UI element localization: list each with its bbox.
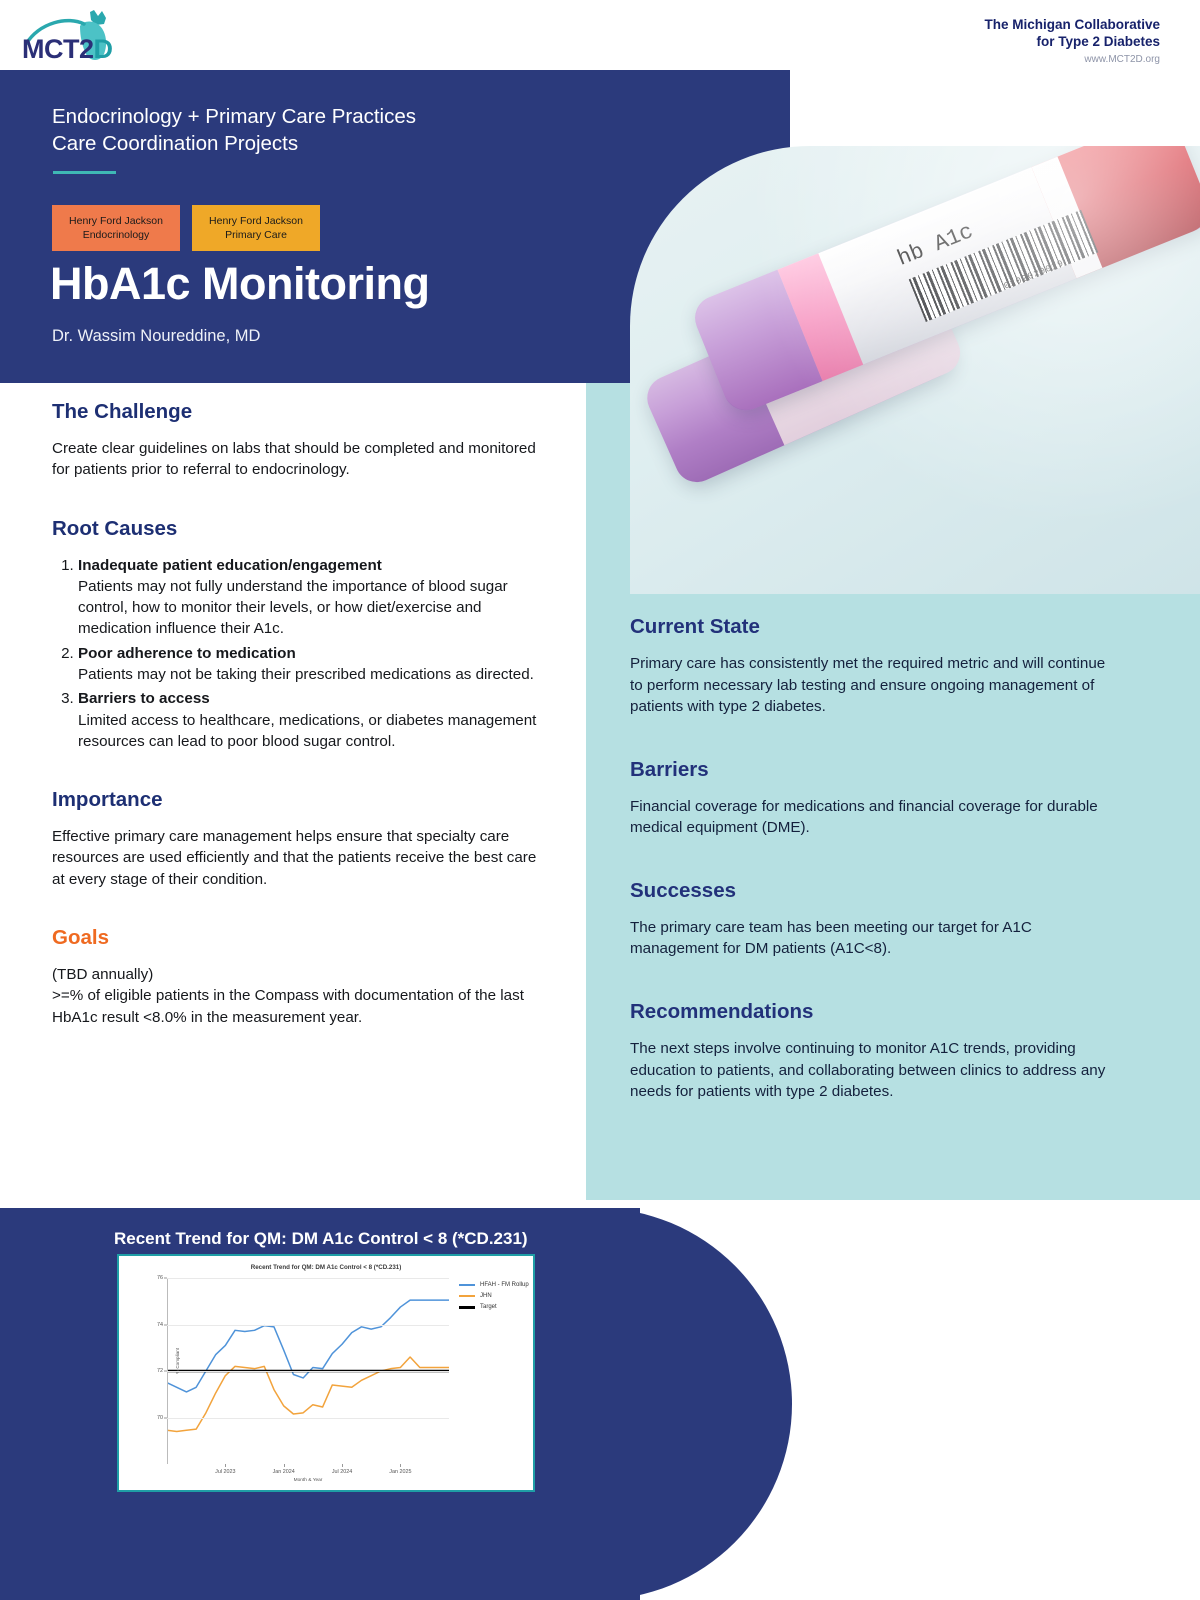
- chart-x-tick-mark: [284, 1464, 285, 1467]
- section-challenge: The Challenge Create clear guidelines on…: [52, 400, 552, 481]
- chart-x-tick-label: Jul 2023: [215, 1469, 235, 1475]
- section-barriers: Barriers Financial coverage for medicati…: [630, 758, 1120, 839]
- legend-label: Target: [480, 1304, 497, 1310]
- chart-y-tick-mark: [164, 1417, 167, 1418]
- right-content-column: Current State Primary care has consisten…: [630, 615, 1120, 1143]
- logo-wordmark: MCT2D: [22, 34, 113, 65]
- list-item: Barriers to access Limited access to hea…: [78, 688, 552, 752]
- legend-swatch: [459, 1306, 475, 1309]
- brand-line-2: for Type 2 Diabetes: [984, 33, 1160, 50]
- chart-gridline: [167, 1418, 449, 1419]
- challenge-heading: The Challenge: [52, 400, 552, 424]
- chart-x-tick-label: Jan 2024: [273, 1469, 295, 1475]
- challenge-body: Create clear guidelines on labs that sho…: [52, 438, 552, 481]
- cause-desc: Patients may not fully understand the im…: [78, 576, 552, 640]
- chart-y-tick-label: 70: [157, 1415, 163, 1421]
- legend-item[interactable]: HFAH - FM Rollup: [459, 1282, 529, 1288]
- chart-x-tick-mark: [342, 1464, 343, 1467]
- chart-y-tick-mark: [164, 1278, 167, 1279]
- barriers-body: Financial coverage for medications and f…: [630, 796, 1120, 839]
- blood-tube-photo: hb A1c 0102020019: [630, 146, 1200, 594]
- chip-primary-care: Henry Ford Jackson Primary Care: [192, 205, 320, 251]
- chart-card: Recent Trend for QM: DM A1c Control < 8 …: [117, 1254, 535, 1492]
- chart-y-tick-label: 76: [157, 1275, 163, 1281]
- left-content-column: The Challenge Create clear guidelines on…: [52, 400, 552, 1064]
- recommendations-body: The next steps involve continuing to mon…: [630, 1038, 1120, 1103]
- chart-y-tick-label: 72: [157, 1368, 163, 1374]
- chart-x-tick-label: Jan 2025: [389, 1469, 411, 1475]
- section-successes: Successes The primary care team has been…: [630, 879, 1120, 960]
- root-causes-heading: Root Causes: [52, 517, 552, 541]
- photo-highlight: [630, 146, 1200, 594]
- chart-legend: HFAH - FM RollupJHNTarget: [459, 1282, 529, 1315]
- cause-title: Poor adherence to medication: [78, 645, 296, 662]
- goals-heading: Goals: [52, 926, 552, 950]
- header-subtitle: Endocrinology + Primary Care Practices C…: [52, 103, 416, 158]
- legend-label: JHN: [480, 1293, 492, 1299]
- chart-y-tick-mark: [164, 1324, 167, 1325]
- legend-label: HFAH - FM Rollup: [480, 1282, 529, 1288]
- legend-swatch: [459, 1284, 475, 1287]
- chart-x-axis-label: Month & Year: [167, 1478, 449, 1483]
- chart-series-line: [167, 1357, 449, 1431]
- logo-text-accent: D: [94, 34, 113, 64]
- root-causes-list: Inadequate patient education/engagement …: [78, 555, 552, 753]
- chart-gridline: [167, 1371, 449, 1372]
- section-current-state: Current State Primary care has consisten…: [630, 615, 1120, 718]
- page-title: HbA1c Monitoring: [50, 258, 429, 310]
- practice-chips: Henry Ford Jackson Endocrinology Henry F…: [52, 205, 320, 251]
- barriers-heading: Barriers: [630, 758, 1120, 782]
- cause-title: Barriers to access: [78, 690, 210, 707]
- brand-url[interactable]: www.MCT2D.org: [984, 54, 1160, 67]
- chart-plot-area: % Compliant 70727476Jul 2023Jan 2024Jul …: [167, 1278, 449, 1464]
- legend-swatch: [459, 1295, 475, 1298]
- section-importance: Importance Effective primary care manage…: [52, 788, 552, 890]
- chart-caption: Recent Trend for QM: DM A1c Control < 8 …: [114, 1229, 528, 1249]
- legend-item[interactable]: Target: [459, 1304, 529, 1310]
- chip-endocrinology: Henry Ford Jackson Endocrinology: [52, 205, 180, 251]
- list-item: Inadequate patient education/engagement …: [78, 555, 552, 640]
- header-divider: [53, 171, 116, 174]
- brand-line-1: The Michigan Collaborative: [984, 16, 1160, 33]
- section-recommendations: Recommendations The next steps involve c…: [630, 1000, 1120, 1103]
- current-state-heading: Current State: [630, 615, 1120, 639]
- mct2d-logo: MCT2D: [20, 8, 140, 66]
- cause-desc: Patients may not be taking their prescri…: [78, 664, 552, 685]
- successes-heading: Successes: [630, 879, 1120, 903]
- importance-body: Effective primary care management helps …: [52, 826, 552, 890]
- legend-item[interactable]: JHN: [459, 1293, 529, 1299]
- chart-x-tick-label: Jul 2024: [332, 1469, 352, 1475]
- brand-block: The Michigan Collaborative for Type 2 Di…: [984, 16, 1160, 66]
- chart-gridline: [167, 1278, 449, 1279]
- chart-x-tick-mark: [400, 1464, 401, 1467]
- goals-body: (TBD annually) >=% of eligible patients …: [52, 964, 552, 1028]
- recommendations-heading: Recommendations: [630, 1000, 1120, 1024]
- top-bar: MCT2D The Michigan Collaborative for Typ…: [0, 0, 1200, 70]
- list-item: Poor adherence to medication Patients ma…: [78, 643, 552, 686]
- importance-heading: Importance: [52, 788, 552, 812]
- logo-text-main: MCT2: [22, 34, 94, 64]
- cause-desc: Limited access to healthcare, medication…: [78, 710, 552, 753]
- chart-gridline: [167, 1325, 449, 1326]
- successes-body: The primary care team has been meeting o…: [630, 917, 1120, 960]
- chart-title: Recent Trend for QM: DM A1c Control < 8 …: [119, 1264, 533, 1271]
- cause-title: Inadequate patient education/engagement: [78, 557, 382, 574]
- section-goals: Goals (TBD annually) >=% of eligible pat…: [52, 926, 552, 1028]
- chart-series-line: [167, 1300, 449, 1392]
- chart-x-tick-mark: [225, 1464, 226, 1467]
- current-state-body: Primary care has consistently met the re…: [630, 653, 1120, 718]
- chart-y-tick-mark: [164, 1371, 167, 1372]
- chart-y-tick-label: 74: [157, 1322, 163, 1328]
- section-root-causes: Root Causes Inadequate patient education…: [52, 517, 552, 753]
- author-name: Dr. Wassim Noureddine, MD: [52, 327, 260, 346]
